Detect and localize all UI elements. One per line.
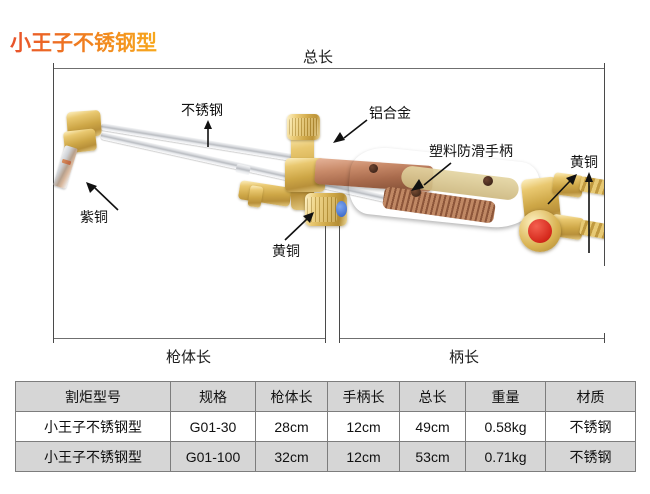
annotation-brass-right: 黄铜 — [570, 152, 598, 172]
table-header-gun-body-length: 枪体长 — [256, 382, 328, 412]
cell-handle-length: 12cm — [328, 412, 400, 442]
red-copper-nozzle-tip — [53, 145, 78, 189]
total-length-label: 总长 — [303, 46, 333, 67]
table-row: 小王子不锈钢型 G01-30 28cm 12cm 49cm 0.58kg 不锈钢 — [16, 412, 636, 442]
tube-collar — [235, 164, 251, 176]
cell-weight: 0.58kg — [466, 412, 546, 442]
annotation-aluminum-alloy: 铝合金 — [369, 103, 411, 123]
cell-model: 小王子不锈钢型 — [16, 442, 171, 472]
cell-material: 不锈钢 — [546, 442, 636, 472]
handle-tick-left — [339, 333, 340, 343]
cell-material: 不锈钢 — [546, 412, 636, 442]
arrow-plastic-grip — [411, 160, 453, 192]
annotation-stainless-steel: 不锈钢 — [181, 100, 223, 120]
table-header-weight: 重量 — [466, 382, 546, 412]
cell-spec: G01-100 — [171, 442, 256, 472]
cell-gun-body-length: 28cm — [256, 412, 328, 442]
page-title: 小王子不锈钢型 — [10, 27, 157, 57]
cell-gun-body-length: 32cm — [256, 442, 328, 472]
arrow-brass-right-diagonal — [546, 172, 578, 206]
product-illustration — [53, 68, 604, 338]
page-root: 小王子不锈钢型 总长 — [0, 0, 650, 494]
handle-length-label: 柄长 — [449, 346, 479, 367]
fuel-valve-knob-red-cap — [528, 219, 552, 243]
aluminum-alloy-cap-knurl — [289, 118, 318, 136]
annotation-brass-left: 黄铜 — [272, 241, 300, 261]
table-header-handle-length: 手柄长 — [328, 382, 400, 412]
arrow-red-copper — [86, 182, 120, 212]
handle-screw-rear — [483, 176, 493, 186]
cell-handle-length: 12cm — [328, 442, 400, 472]
gun-body-tick-left — [53, 333, 54, 343]
table-header-row: 割炬型号 规格 枪体长 手柄长 总长 重量 材质 — [16, 382, 636, 412]
arrow-aluminum-alloy — [333, 118, 369, 144]
oxygen-valve-blue-dot — [336, 201, 347, 217]
cell-model: 小王子不锈钢型 — [16, 412, 171, 442]
arrow-brass-right-vertical — [581, 172, 597, 254]
table-header-material: 材质 — [546, 382, 636, 412]
cell-total-length: 53cm — [400, 442, 466, 472]
table-header-spec: 规格 — [171, 382, 256, 412]
extension-line-right — [604, 68, 605, 266]
cell-weight: 0.71kg — [466, 442, 546, 472]
arrow-stainless-steel — [200, 120, 216, 148]
gun-body-tick-right — [325, 333, 326, 343]
spec-table: 割炬型号 规格 枪体长 手柄长 总长 重量 材质 小王子不锈钢型 G01-30 … — [15, 381, 636, 472]
table-header-total-length: 总长 — [400, 382, 466, 412]
cell-spec: G01-30 — [171, 412, 256, 442]
handle-dimension-line — [339, 338, 604, 339]
table-row: 小王子不锈钢型 G01-100 32cm 12cm 53cm 0.71kg 不锈… — [16, 442, 636, 472]
table-header-model: 割炬型号 — [16, 382, 171, 412]
arrow-brass-left — [283, 212, 315, 242]
handle-tick-right — [604, 333, 605, 343]
gun-body-length-label: 枪体长 — [166, 346, 211, 367]
handle-screw-front — [369, 164, 378, 173]
gun-body-dimension-line — [53, 338, 325, 339]
cell-total-length: 49cm — [400, 412, 466, 442]
brass-lower-nut — [247, 185, 263, 208]
annotation-plastic-grip: 塑料防滑手柄 — [429, 141, 513, 161]
